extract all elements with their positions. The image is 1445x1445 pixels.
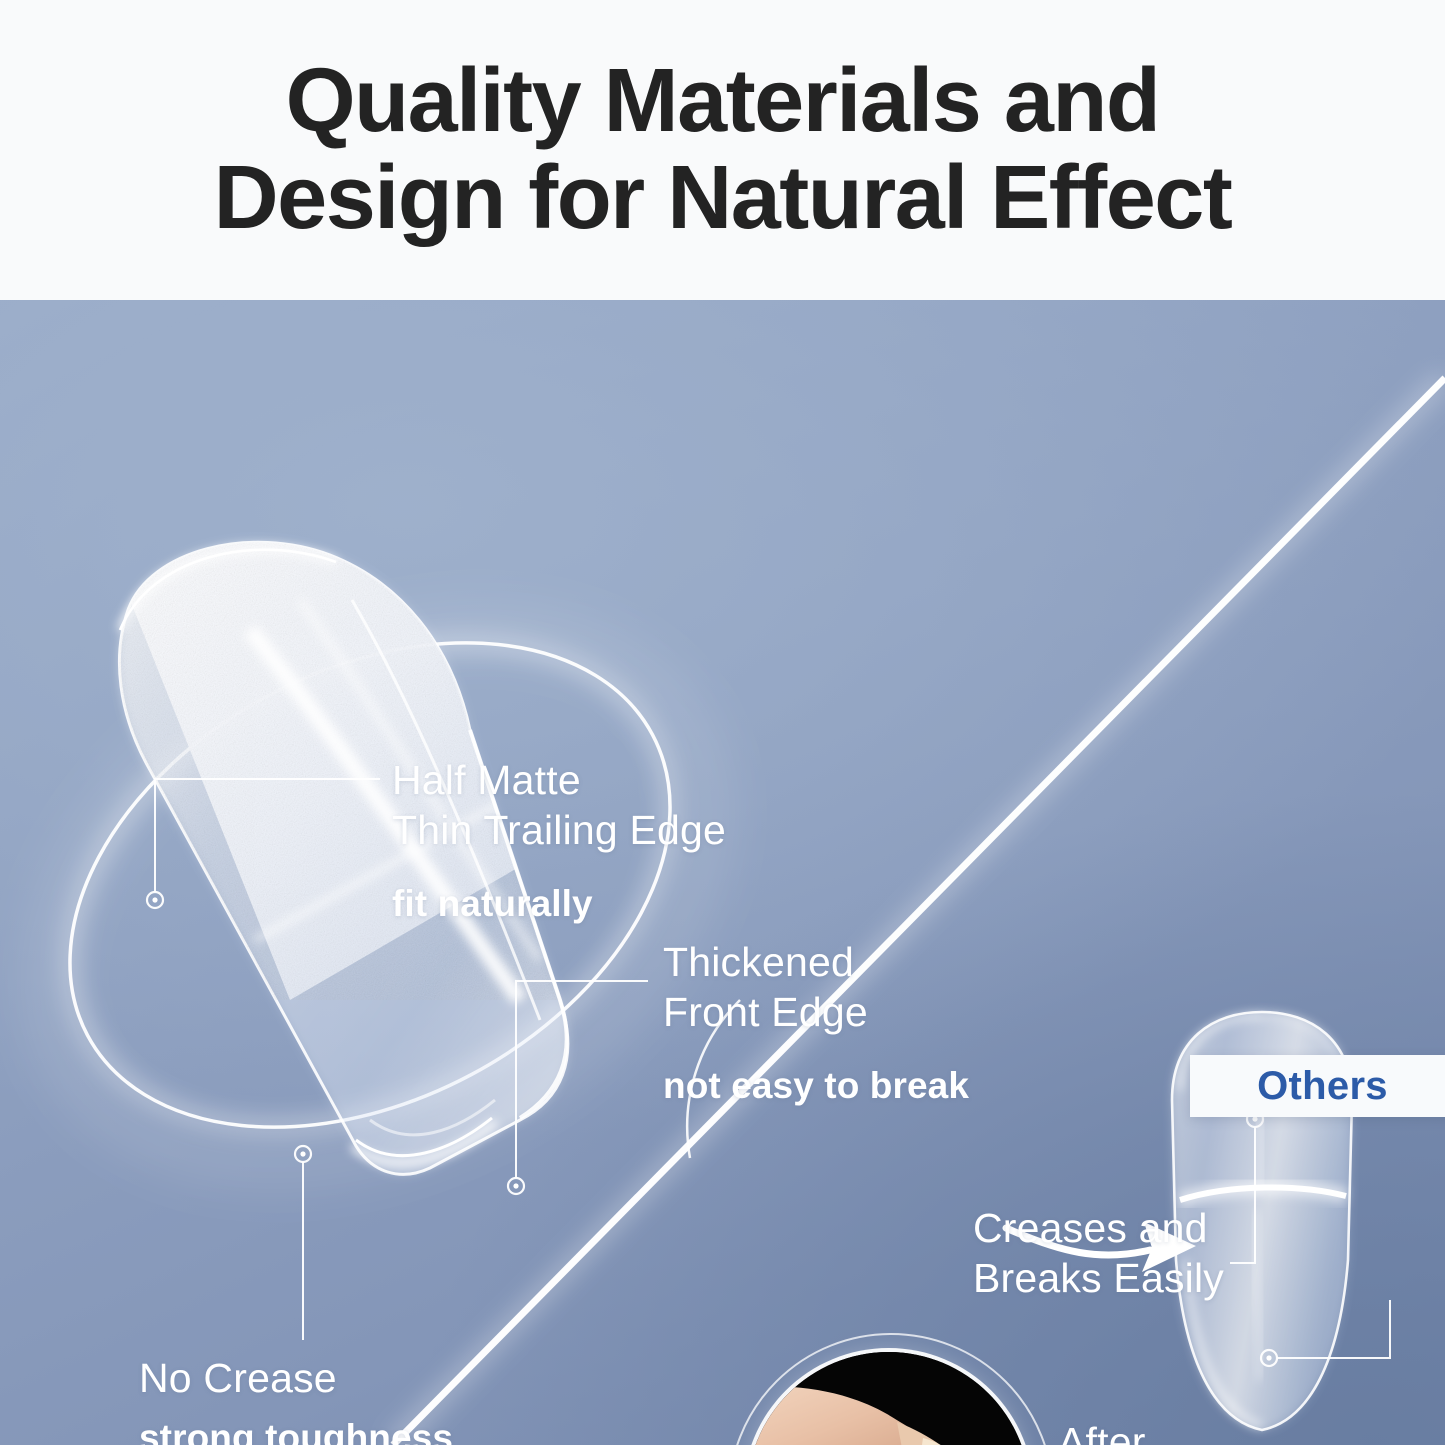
comparison-badge-label: Others bbox=[1257, 1064, 1388, 1109]
callout-creases-breaks-title: Creases and Breaks Easily bbox=[973, 1203, 1293, 1304]
callout-no-crease-subtitle: strong toughness bbox=[139, 1417, 453, 1445]
callout-half-matte-title: Half Matte Thin Trailing Edge bbox=[392, 755, 862, 856]
callout-no-crease-title: No Crease bbox=[139, 1353, 559, 1403]
callout-half-matte-subtitle: fit naturally bbox=[392, 883, 593, 925]
bend-demo-photo bbox=[747, 1352, 1030, 1445]
comparison-badge-others: Others bbox=[1190, 1055, 1445, 1117]
comparison-panel: Half Matte Thin Trailing Edge fit natura… bbox=[0, 300, 1445, 1445]
callout-thickened-front-edge-title: Thickened Front Edge bbox=[663, 937, 1063, 1038]
page-title: Quality Materials and Design for Natural… bbox=[174, 53, 1272, 247]
header-band: Quality Materials and Design for Natural… bbox=[0, 0, 1445, 300]
callout-thickened-front-edge-subtitle: not easy to break bbox=[663, 1065, 969, 1107]
infographic-root: Quality Materials and Design for Natural… bbox=[0, 0, 1445, 1445]
callout-after-bend-title: After Bend bbox=[1058, 1417, 1218, 1445]
fingers-bending-nail-illustration bbox=[747, 1352, 1030, 1445]
